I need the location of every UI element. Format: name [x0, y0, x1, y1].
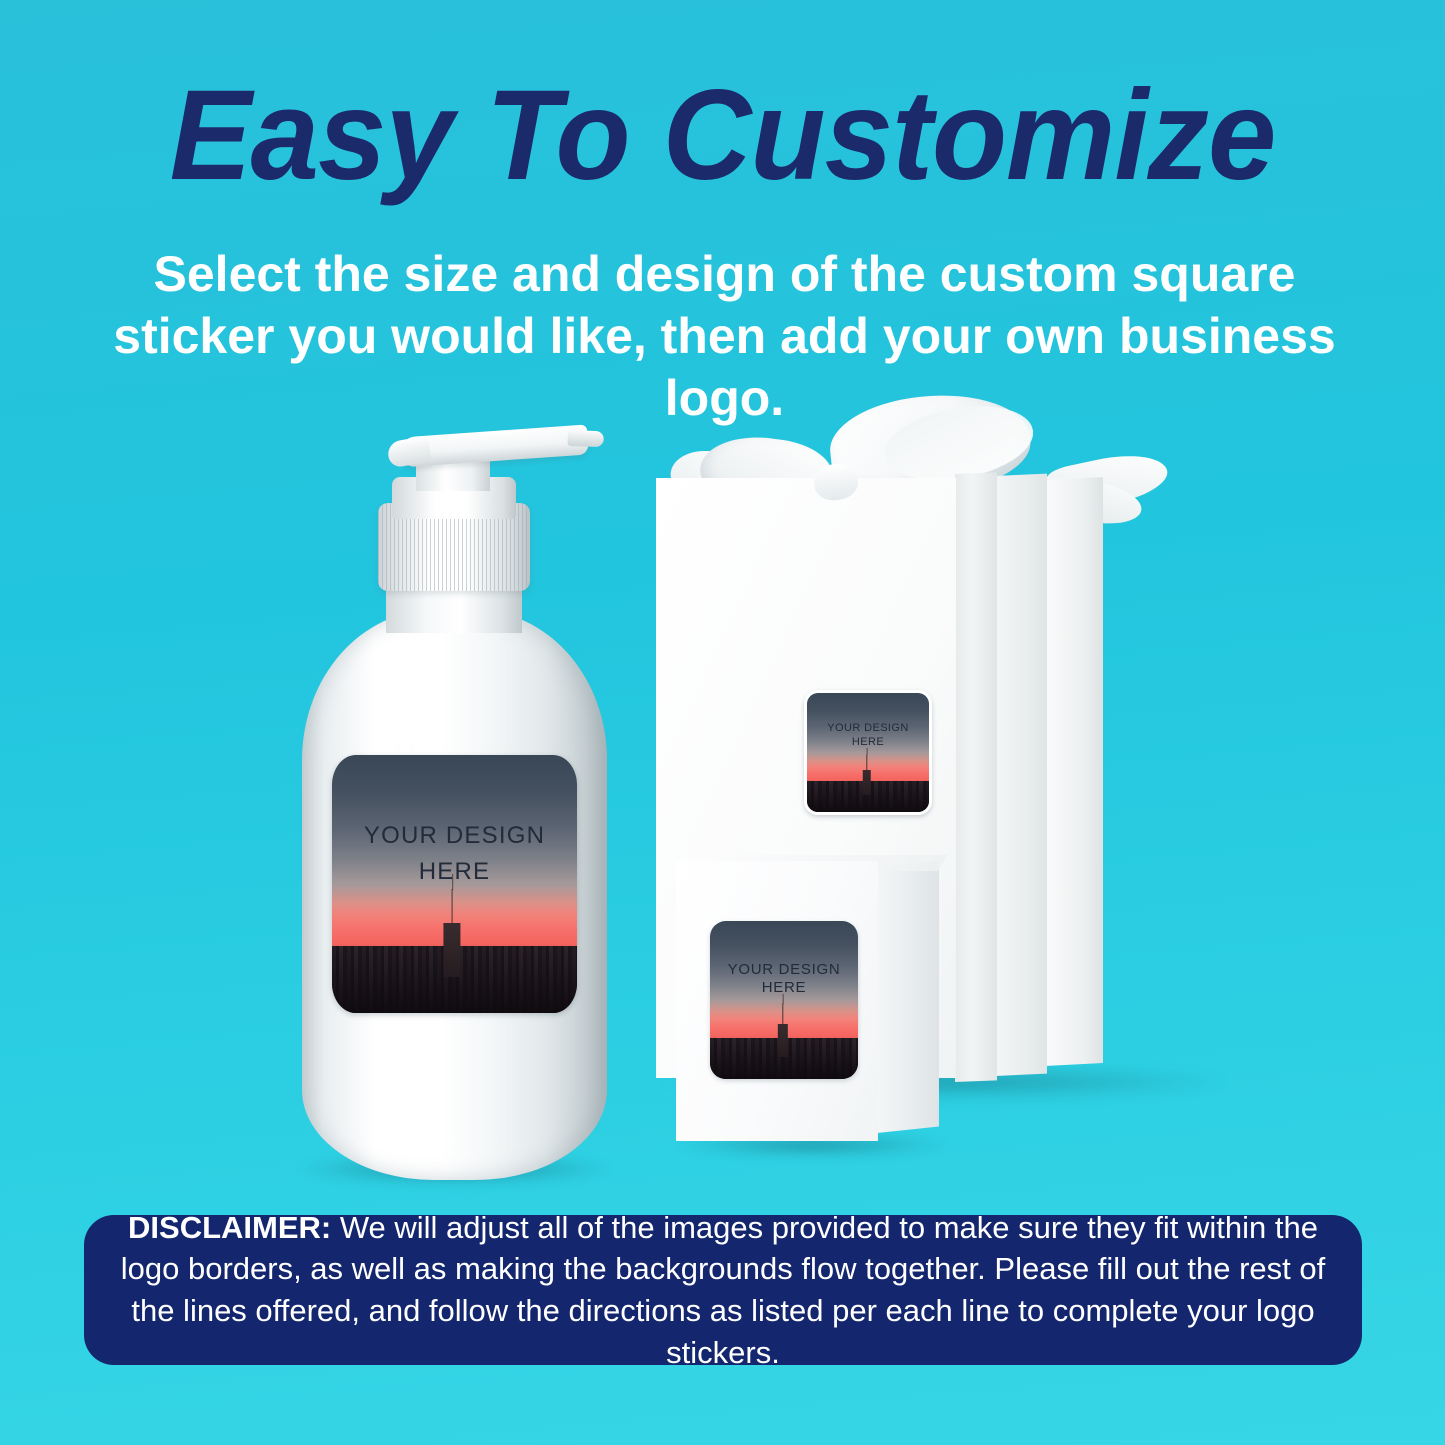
giftbox-side-panel-mid	[995, 474, 1047, 1076]
sticker-text-line2: HERE	[710, 979, 858, 996]
sticker-text-line2: HERE	[332, 858, 577, 886]
product-cube-box: YOUR DESIGN HERE	[668, 855, 958, 1150]
sticker-label-bottle: YOUR DESIGN HERE	[332, 755, 577, 1013]
page-subtitle: Select the size and design of the custom…	[112, 243, 1337, 429]
cubebox-side-panel	[877, 860, 939, 1133]
sticker-label-cubebox: YOUR DESIGN HERE	[710, 921, 858, 1079]
sticker-empire-state-building	[443, 923, 460, 977]
disclaimer-label: DISCLAIMER:	[128, 1210, 331, 1245]
sticker-empire-state-building	[863, 770, 872, 795]
product-pump-bottle: YOUR DESIGN HERE	[280, 425, 630, 1180]
promo-banner: Easy To Customize Select the size and de…	[0, 0, 1445, 1445]
giftbox-side-panel-front	[955, 472, 997, 1082]
page-title: Easy To Customize	[29, 72, 1416, 200]
sticker-text-line1: YOUR DESIGN	[807, 722, 929, 734]
giftbox-side-panel-back	[1045, 477, 1103, 1066]
sticker-text-line2: HERE	[807, 736, 929, 748]
sticker-text-line1: YOUR DESIGN	[332, 822, 577, 850]
sticker-text-line1: YOUR DESIGN	[710, 961, 858, 978]
sticker-label-giftbox: YOUR DESIGN HERE	[804, 690, 932, 815]
disclaimer-text: DISCLAIMER: We will adjust all of the im…	[118, 1207, 1328, 1373]
disclaimer-panel: DISCLAIMER: We will adjust all of the im…	[84, 1215, 1362, 1365]
sticker-empire-state-building	[777, 1024, 787, 1057]
